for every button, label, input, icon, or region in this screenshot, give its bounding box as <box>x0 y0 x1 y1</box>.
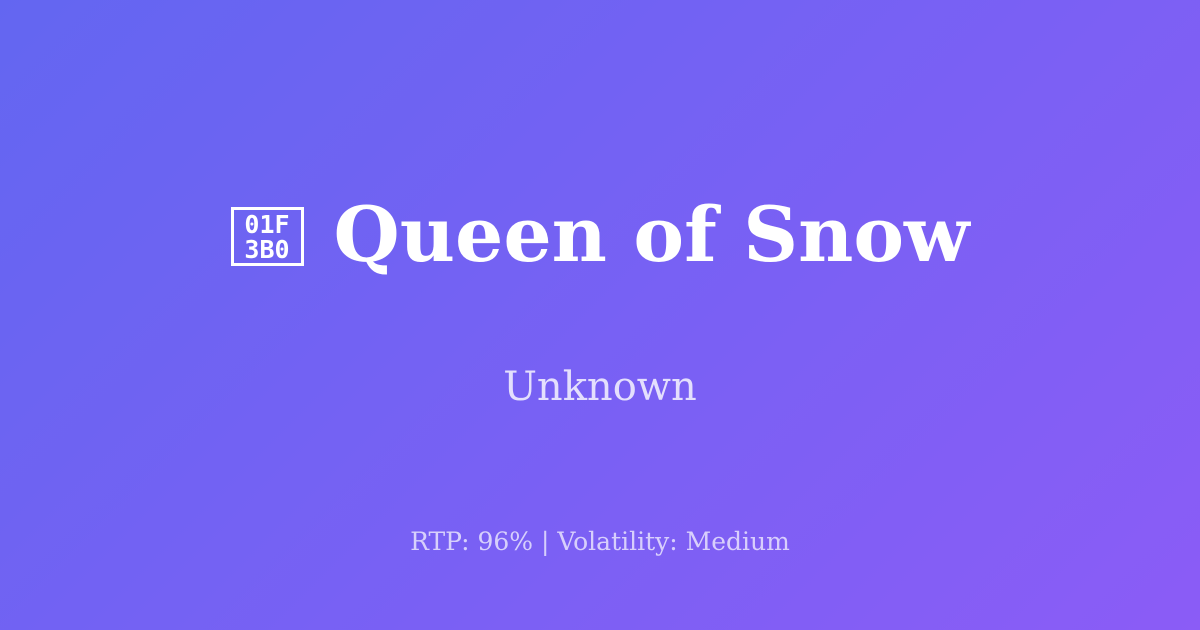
codepoint-row-bottom: 3B0 <box>244 237 289 262</box>
slot-machine-icon: 01F 3B0 <box>231 207 304 266</box>
game-stats-line: RTP: 96% | Volatility: Medium <box>0 526 1200 558</box>
provider-subtitle: Unknown <box>0 363 1200 411</box>
title-row: 01F 3B0 Queen of Snow <box>231 196 970 274</box>
page-title: Queen of Snow <box>334 196 970 274</box>
codepoint-row-top: 01F <box>244 212 289 237</box>
game-preview-card: 01F 3B0 Queen of Snow Unknown RTP: 96% |… <box>0 0 1200 630</box>
